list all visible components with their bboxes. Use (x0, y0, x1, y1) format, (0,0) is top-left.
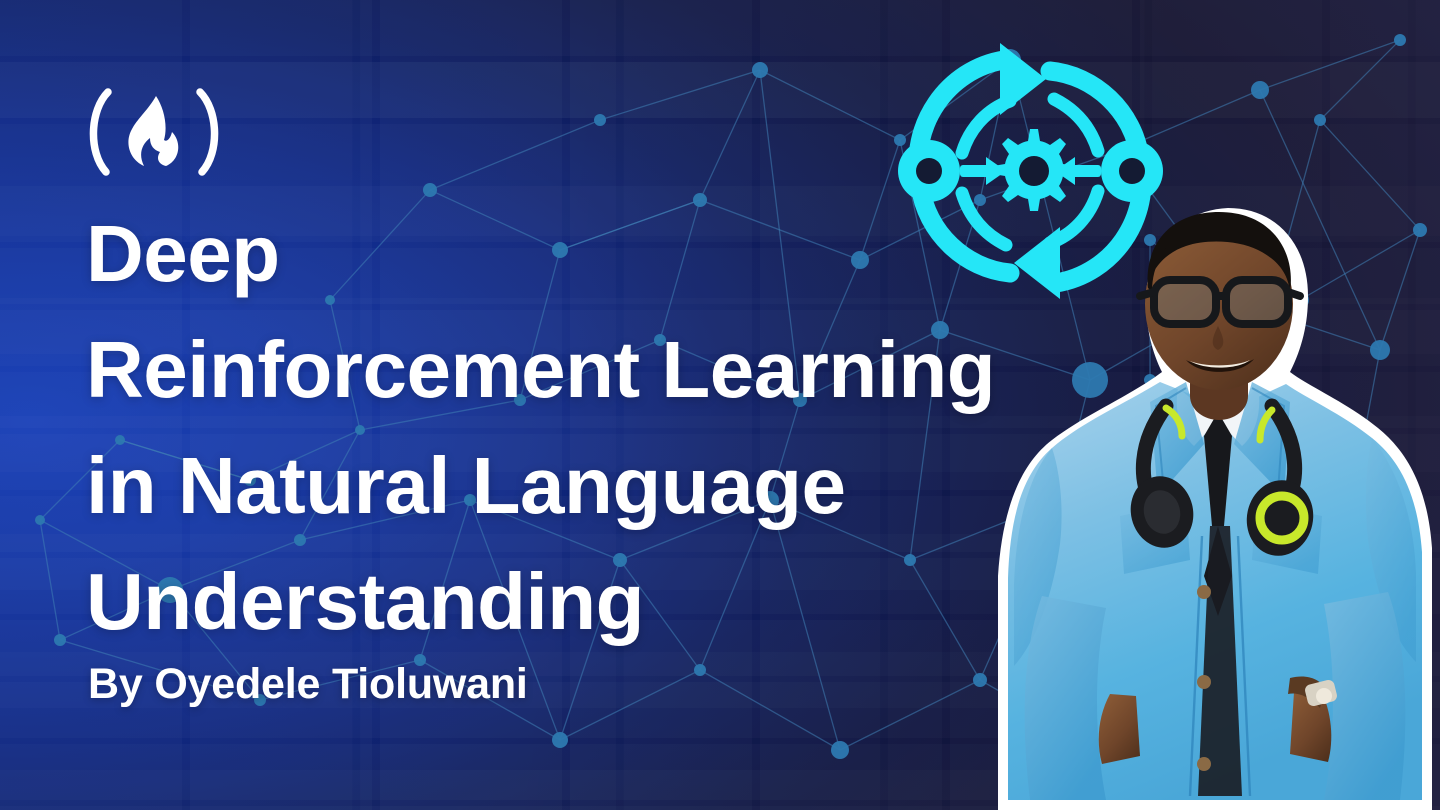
flame-icon (93, 92, 214, 172)
environment-node-right (1101, 140, 1163, 202)
author-portrait (990, 196, 1440, 810)
thumbnail-canvas: Deep Reinforcement Learning in Natural L… (0, 0, 1440, 810)
author-byline: By Oyedele Tioluwani (88, 655, 528, 713)
page-title: Deep Reinforcement Learning in Natural L… (86, 196, 1136, 660)
title-line-3: in Natural Language (86, 428, 1136, 544)
title-line-2: Reinforcement Learning (86, 312, 1136, 428)
title-line-1: Deep (86, 196, 1136, 312)
freecodecamp-logo (78, 84, 230, 180)
title-line-4: Understanding (86, 544, 1136, 660)
agent-node-left (898, 140, 960, 202)
